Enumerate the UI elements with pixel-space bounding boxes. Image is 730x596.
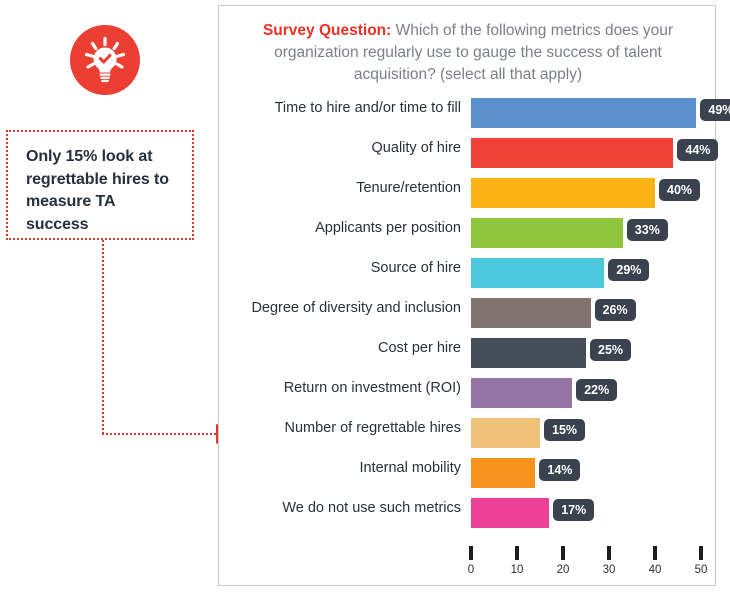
- bar-fill: [471, 498, 549, 528]
- callout-column: Only 15% look at regrettable hires to me…: [0, 0, 218, 596]
- connector-line-vertical: [102, 240, 104, 434]
- bar-label: Number of regrettable hires: [231, 420, 461, 436]
- axis-tick: [561, 546, 565, 560]
- axis-tick-label: 10: [511, 564, 524, 576]
- bar-label: Return on investment (ROI): [231, 380, 461, 396]
- bar-row: Source of hire29%: [219, 254, 717, 294]
- bar-value-badge: 17%: [553, 499, 594, 521]
- bar-value-badge: 33%: [627, 219, 668, 241]
- bar-value-badge: 44%: [677, 139, 718, 161]
- x-axis: 01020304050: [471, 546, 701, 586]
- bar-label: Time to hire and/or time to fill: [231, 100, 461, 116]
- bar-label: Quality of hire: [231, 140, 461, 156]
- bar-row: Quality of hire44%: [219, 134, 717, 174]
- axis-tick: [607, 546, 611, 560]
- bar-chart: Time to hire and/or time to fill49%Quali…: [219, 94, 717, 534]
- bar-row: Tenure/retention40%: [219, 174, 717, 214]
- axis-tick-label: 20: [557, 564, 570, 576]
- bar-fill: [471, 218, 623, 248]
- bar-row: Cost per hire25%: [219, 334, 717, 374]
- bar-fill: [471, 178, 655, 208]
- bar-value-badge: 40%: [659, 179, 700, 201]
- bar-value-badge: 49%: [700, 99, 730, 121]
- axis-tick: [653, 546, 657, 560]
- bar-fill: [471, 138, 673, 168]
- bar-fill: [471, 338, 586, 368]
- callout-box: Only 15% look at regrettable hires to me…: [6, 130, 194, 240]
- survey-question: Survey Question: Which of the following …: [235, 20, 701, 86]
- bar-label: Cost per hire: [231, 340, 461, 356]
- lightbulb-check-icon: [70, 25, 140, 95]
- bar-label: We do not use such metrics: [231, 500, 461, 516]
- bar-value-badge: 25%: [590, 339, 631, 361]
- bar-label: Source of hire: [231, 260, 461, 276]
- bar-value-badge: 26%: [595, 299, 636, 321]
- bar-value-badge: 29%: [608, 259, 649, 281]
- axis-tick: [515, 546, 519, 560]
- chart-panel: Survey Question: Which of the following …: [218, 5, 716, 586]
- bar-fill: [471, 98, 696, 128]
- survey-question-label: Survey Question:: [263, 22, 391, 39]
- axis-tick: [469, 546, 473, 560]
- bar-label: Degree of diversity and inclusion: [231, 300, 461, 316]
- bar-label: Tenure/retention: [231, 180, 461, 196]
- bar-fill: [471, 258, 604, 288]
- bar-row: Degree of diversity and inclusion26%: [219, 294, 717, 334]
- bar-row: We do not use such metrics17%: [219, 494, 717, 534]
- bar-row: Internal mobility14%: [219, 454, 717, 494]
- axis-tick-label: 50: [695, 564, 708, 576]
- bar-row: Applicants per position33%: [219, 214, 717, 254]
- axis-tick: [699, 546, 703, 560]
- bar-row: Return on investment (ROI)22%: [219, 374, 717, 414]
- axis-tick-label: 0: [468, 564, 474, 576]
- bar-fill: [471, 458, 535, 488]
- bar-row: Time to hire and/or time to fill49%: [219, 94, 717, 134]
- bar-label: Applicants per position: [231, 220, 461, 236]
- axis-tick-label: 30: [603, 564, 616, 576]
- bar-label: Internal mobility: [231, 460, 461, 476]
- connector-line-horizontal: [102, 433, 220, 435]
- bar-value-badge: 14%: [539, 459, 580, 481]
- axis-tick-label: 40: [649, 564, 662, 576]
- bar-fill: [471, 378, 572, 408]
- bar-fill: [471, 418, 540, 448]
- bar-row: Number of regrettable hires15%: [219, 414, 717, 454]
- bar-value-badge: 15%: [544, 419, 585, 441]
- callout-text: Only 15% look at regrettable hires to me…: [26, 146, 176, 237]
- bar-fill: [471, 298, 591, 328]
- bar-value-badge: 22%: [576, 379, 617, 401]
